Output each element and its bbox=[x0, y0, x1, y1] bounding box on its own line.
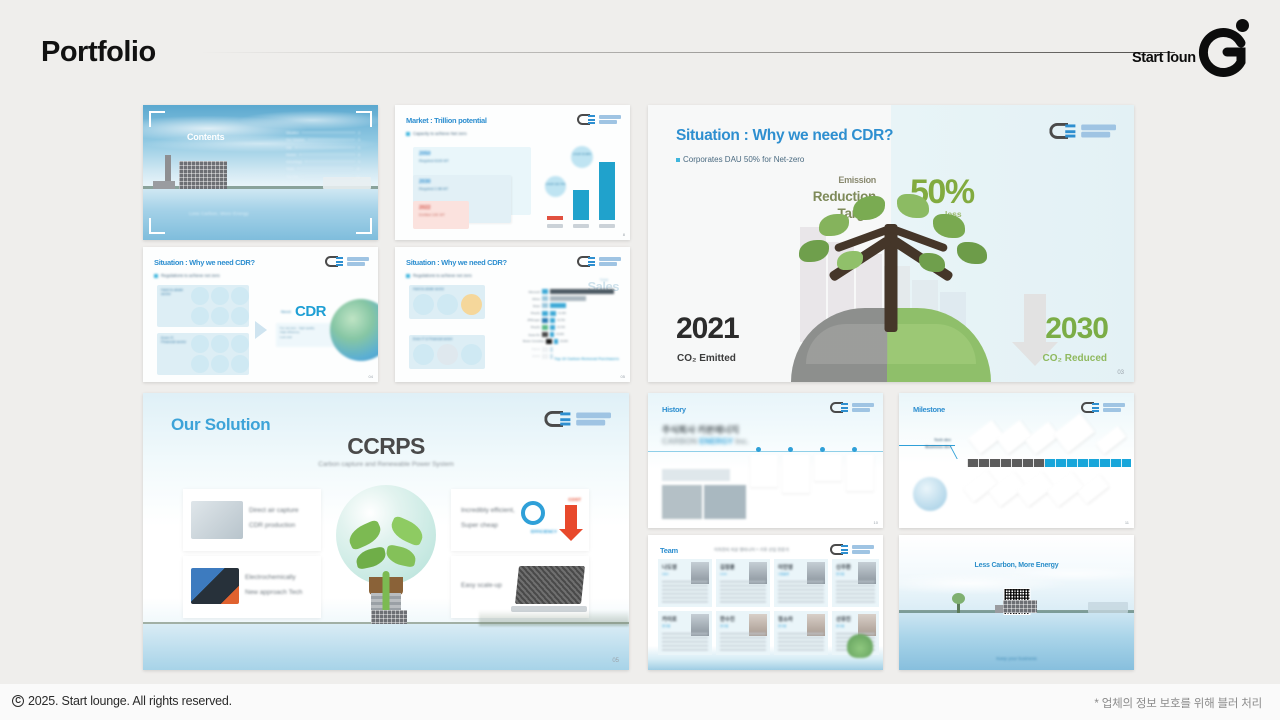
feature-line-2: New approach Tech bbox=[245, 589, 302, 596]
team-member-card[interactable]: 이민영 사업총괄 bbox=[774, 559, 828, 607]
copyright-icon: C bbox=[12, 695, 24, 707]
slide-bullet: Corporates DAU 50% for Net-zero bbox=[676, 155, 804, 164]
page-header: Portfolio Start loun bbox=[0, 0, 1280, 96]
earth-icon bbox=[330, 299, 378, 361]
feature-line-1: Direct air capture bbox=[249, 507, 299, 514]
group-label: Hard-to-abate sector bbox=[413, 287, 444, 291]
slide-title: Situation : Why we need CDR? bbox=[154, 258, 255, 267]
lightbulb-plant-icon bbox=[332, 485, 440, 625]
track-label-2: Business dev bbox=[913, 444, 951, 449]
slide-title: Our Solution bbox=[171, 415, 270, 435]
slide-title: Team bbox=[660, 546, 678, 555]
efficiency-icon bbox=[521, 501, 545, 525]
closing-footer: Keep your business bbox=[899, 656, 1134, 661]
need-value: CDR bbox=[295, 303, 326, 320]
carbon-energy-logo-icon bbox=[830, 402, 874, 413]
feature-line-2: Super cheap bbox=[461, 522, 498, 529]
slide-page-number: 05 bbox=[612, 658, 619, 664]
cagr-bubble: CAGR 35.88% bbox=[571, 146, 593, 168]
group-label: Even IT & Financial sector bbox=[413, 337, 453, 341]
member-role: 연구원 bbox=[836, 624, 844, 628]
cagr-bubble: CAGR 193.74% bbox=[545, 176, 566, 197]
slide-title: Milestone bbox=[913, 405, 945, 414]
thumbnail-situation-cdr[interactable]: Situation : Why we need CDR? Regulations… bbox=[143, 247, 378, 382]
feature-line-1: Easy scale-up bbox=[461, 582, 502, 589]
carbon-energy-logo-icon bbox=[544, 411, 611, 427]
slide-page-number: 03 bbox=[1117, 370, 1124, 376]
carbon-energy-logo-icon bbox=[577, 114, 621, 125]
slide-page-number: 04 bbox=[369, 374, 373, 379]
member-name: 이민영 bbox=[778, 563, 793, 571]
thumbnail-market[interactable]: Market : Trillion potential Capacity to … bbox=[395, 105, 630, 240]
company-name-en: CARBON ENERGY Inc. bbox=[662, 437, 749, 446]
copyright-text: 2025. Start lounge. All rights reserved. bbox=[28, 694, 232, 708]
market-card-sub: Emitted 10K MT bbox=[419, 213, 445, 217]
thumbnail-history[interactable]: History 주식회사 카본에너지 CARBON ENERGY Inc. bbox=[648, 393, 883, 528]
feature-card[interactable]: Direct air capture CDR production bbox=[183, 489, 321, 551]
closing-tagline: Less Carbon, More Energy bbox=[899, 562, 1134, 569]
feature-line-1: Incredibly efficient, bbox=[461, 507, 515, 514]
carbon-energy-logo-icon bbox=[577, 256, 621, 267]
thumbnail-contents[interactable]: Contents Situation3 Our Solution5 HW6 Ma… bbox=[143, 105, 378, 240]
member-role: 연구원 bbox=[778, 624, 786, 628]
right-caption: CO₂ Reduced bbox=[1043, 353, 1107, 364]
feature-badge-2: COST bbox=[568, 497, 581, 502]
member-name: 신주환 bbox=[836, 563, 851, 571]
right-year: 2030 bbox=[1045, 312, 1108, 346]
group-label: Even IT, Financial sector bbox=[161, 336, 189, 344]
feature-line-2: CDR production bbox=[249, 522, 295, 529]
slide-bullet: Regulations to achieve net zero bbox=[406, 273, 472, 278]
member-name: 나도영 bbox=[662, 563, 677, 571]
slide-title: Situation : Why we need CDR? bbox=[406, 258, 507, 267]
cost-down-icon bbox=[565, 505, 577, 529]
start-lounge-g-icon bbox=[1186, 16, 1252, 85]
thumbnail-situation-featured[interactable]: Situation : Why we need CDR? Corporates … bbox=[648, 105, 1134, 382]
slide-bullet: Regulations to achieve net zero bbox=[154, 273, 220, 278]
member-role: 연구원 bbox=[720, 624, 728, 628]
team-member-card[interactable]: 정소라 연구원 bbox=[774, 611, 828, 655]
member-role: COO bbox=[720, 572, 727, 576]
slide-title: Contents bbox=[187, 132, 224, 142]
company-name-kr: 주식회사 카본에너지 bbox=[662, 423, 739, 436]
member-name: 정소라 bbox=[778, 615, 793, 623]
carbon-energy-logo-icon bbox=[325, 256, 369, 267]
slide-subtitle: 이차전지 지상 엔지니어 + 기후 산업 전문가 bbox=[714, 547, 789, 553]
feature-badge: EFFICIENCY bbox=[531, 529, 557, 534]
feature-card[interactable]: Easy scale-up bbox=[451, 556, 589, 618]
page-title: Portfolio bbox=[41, 36, 156, 69]
left-caption: CO₂ Emitted bbox=[677, 353, 736, 364]
slide-title: History bbox=[662, 405, 686, 414]
team-member-card[interactable]: 신주환 연구원 bbox=[832, 559, 879, 607]
slide-title: Situation : Why we need CDR? bbox=[676, 127, 893, 145]
tree-illustration bbox=[781, 182, 1001, 382]
member-name: 김장훈 bbox=[720, 563, 735, 571]
thumbnail-team[interactable]: Team 이차전지 지상 엔지니어 + 기후 산업 전문가 나도영 CEO 김장… bbox=[648, 535, 883, 670]
member-name: 카이로 bbox=[662, 615, 677, 623]
need-label: Need bbox=[281, 309, 291, 314]
market-card-sub: Required 6100 MT bbox=[419, 159, 449, 163]
thumbnail-closing[interactable]: Less Carbon, More Energy Keep your busin… bbox=[899, 535, 1134, 670]
team-member-card[interactable]: 김장훈 COO bbox=[716, 559, 770, 607]
feature-card[interactable]: Incredibly efficient, Super cheap EFFICI… bbox=[451, 489, 589, 551]
slide-title: Market : Trillion potential bbox=[406, 116, 487, 125]
blur-disclaimer-note: * 업체의 정보 보호를 위해 블러 처리 bbox=[1094, 695, 1262, 711]
carbon-energy-logo-icon bbox=[1049, 123, 1116, 139]
track-label-1: Tech dev bbox=[919, 437, 951, 442]
corner-bracket-top-left bbox=[149, 111, 165, 127]
slide-page-number: 11 bbox=[1125, 520, 1129, 525]
team-member-card[interactable]: 나도영 CEO bbox=[658, 559, 712, 607]
copyright-notice: C 2025. Start lounge. All rights reserve… bbox=[12, 694, 232, 708]
subheadline: Carbon capture and Renewable Power Syste… bbox=[143, 461, 629, 468]
group-label: Hard-to-abate sector bbox=[161, 288, 191, 296]
left-year: 2021 bbox=[676, 312, 739, 346]
thumbnail-situation-sales[interactable]: Situation : Why we need CDR? Regulations… bbox=[395, 247, 630, 382]
header-divider bbox=[200, 52, 1175, 53]
team-member-card[interactable]: 카이로 연구원 bbox=[658, 611, 712, 655]
feature-card[interactable]: Electrochemically New approach Tech bbox=[183, 556, 321, 618]
team-member-card[interactable]: 한수진 연구원 bbox=[716, 611, 770, 655]
member-role: CEO bbox=[662, 572, 669, 576]
market-card-year: 2050 bbox=[419, 151, 431, 157]
slide-page-number: 10 bbox=[874, 520, 878, 525]
market-card-year: 2022 bbox=[419, 205, 431, 211]
market-card-sub: Required 2.9B MT bbox=[419, 187, 448, 191]
headline: CCRPS bbox=[143, 433, 629, 460]
market-card-year: 2030 bbox=[419, 179, 431, 185]
member-role: 사업총괄 bbox=[778, 572, 789, 576]
tree-icon bbox=[847, 634, 873, 658]
slide-tagline: Less Carbon, More Energy bbox=[189, 211, 249, 216]
brand-logo[interactable]: Start loun bbox=[1132, 16, 1258, 80]
corner-bracket-bottom-right bbox=[356, 218, 372, 234]
member-role: 연구원 bbox=[662, 624, 670, 628]
feature-line-1: Electrochemically bbox=[245, 574, 296, 581]
page-footer: C 2025. Start lounge. All rights reserve… bbox=[0, 684, 1280, 720]
corner-bracket-top-right bbox=[356, 111, 372, 127]
carbon-energy-logo-icon bbox=[830, 544, 874, 555]
member-role: 연구원 bbox=[836, 572, 844, 576]
slide-page-number: 05 bbox=[621, 374, 625, 379]
chart-caption: Top 10 Carbon Removal Purchasers bbox=[554, 357, 619, 362]
portfolio-gallery: Contents Situation3 Our Solution5 HW6 Ma… bbox=[143, 105, 1134, 670]
slide-page-number: 8 bbox=[623, 232, 625, 237]
thumbnail-milestone[interactable]: Milestone Tech dev Business dev 11 bbox=[899, 393, 1134, 528]
thumbnail-our-solution[interactable]: Our Solution CCRPS Carbon capture and Re… bbox=[143, 393, 629, 670]
corner-bracket-bottom-left bbox=[149, 218, 165, 234]
slide-bullet: Capacity to achieve Net zero bbox=[406, 131, 467, 136]
member-name: 선유진 bbox=[836, 615, 851, 623]
member-name: 한수진 bbox=[720, 615, 735, 623]
carbon-energy-logo-icon bbox=[1081, 402, 1125, 413]
